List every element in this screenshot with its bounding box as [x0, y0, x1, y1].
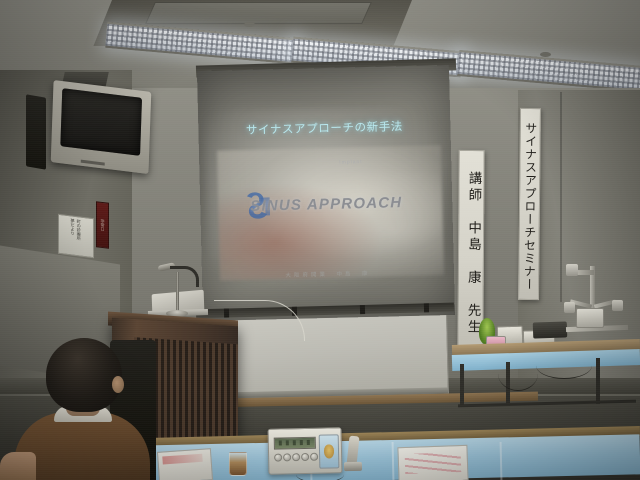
lcd-segment [307, 440, 310, 445]
device-button[interactable] [274, 453, 282, 461]
equipment-cable [498, 356, 538, 391]
device-button[interactable] [292, 453, 300, 461]
ceiling-mounted-tv [51, 80, 152, 174]
banner-seminar-title: サイナスアプローチセミナー [518, 108, 541, 300]
equipment-cable [536, 352, 592, 379]
ceiling-sensor-icon [244, 22, 255, 27]
articulating-arm-rig [566, 258, 636, 344]
tea-cup [229, 452, 247, 476]
arm-control-box [576, 308, 604, 328]
handout-paper-left [157, 448, 213, 480]
screen-bar-clip [424, 303, 429, 312]
equipment-box-3 [533, 321, 568, 338]
projection-screen: サイナスアプローチの新手法 Implant SINUS APPROACH 大阪府… [197, 65, 455, 321]
slide-subtitle: Implant [339, 159, 363, 166]
handout-marking [162, 454, 202, 465]
ceiling-sensor-icon [540, 52, 551, 57]
microphone-gooseneck [170, 266, 199, 287]
arm-head-lower-left [564, 302, 575, 313]
screen-bar-clip [360, 305, 365, 314]
table-leg [596, 358, 600, 404]
seminar-room-photo: サイナスアプローチの新手法 Implant SINUS APPROACH 大阪府… [0, 0, 640, 480]
arm-head-left [566, 264, 578, 276]
document-sheet [397, 445, 468, 480]
ceiling-vent [145, 2, 372, 24]
lcd-segment [279, 440, 282, 445]
device-foot-cable [296, 466, 344, 480]
lcd-segment [293, 440, 296, 445]
attendee-ear [112, 376, 124, 393]
device-indicator-icon [324, 444, 334, 458]
right-wall-seam [560, 92, 562, 302]
handpiece-holder [344, 462, 362, 471]
device-button[interactable] [283, 453, 291, 461]
document-markings [405, 452, 462, 474]
wall-notice-line-2: 夢だより [70, 218, 75, 253]
device-button[interactable] [301, 453, 309, 461]
second-attendee-arm [0, 452, 36, 480]
table-leg [460, 364, 464, 406]
device-side-panel [319, 434, 340, 468]
device-lcd-display [274, 437, 316, 450]
emergency-exit-sign: 非常口 [96, 201, 109, 249]
emergency-exit-label: 非常口 [100, 219, 106, 232]
lcd-segment [286, 440, 289, 445]
wall-notice-line-1: 町の診療所 [77, 219, 82, 254]
wall-speaker [26, 94, 46, 170]
tv-brand-badge [81, 160, 105, 166]
microphone-stand [176, 272, 179, 314]
tv-screen [60, 88, 142, 156]
device-button[interactable] [310, 453, 318, 461]
lcd-segment [300, 440, 303, 445]
attendee-head [46, 338, 122, 412]
arm-head-lower-right [612, 300, 623, 311]
wall-notice-sign: 町の診療所 夢だより [58, 214, 94, 258]
